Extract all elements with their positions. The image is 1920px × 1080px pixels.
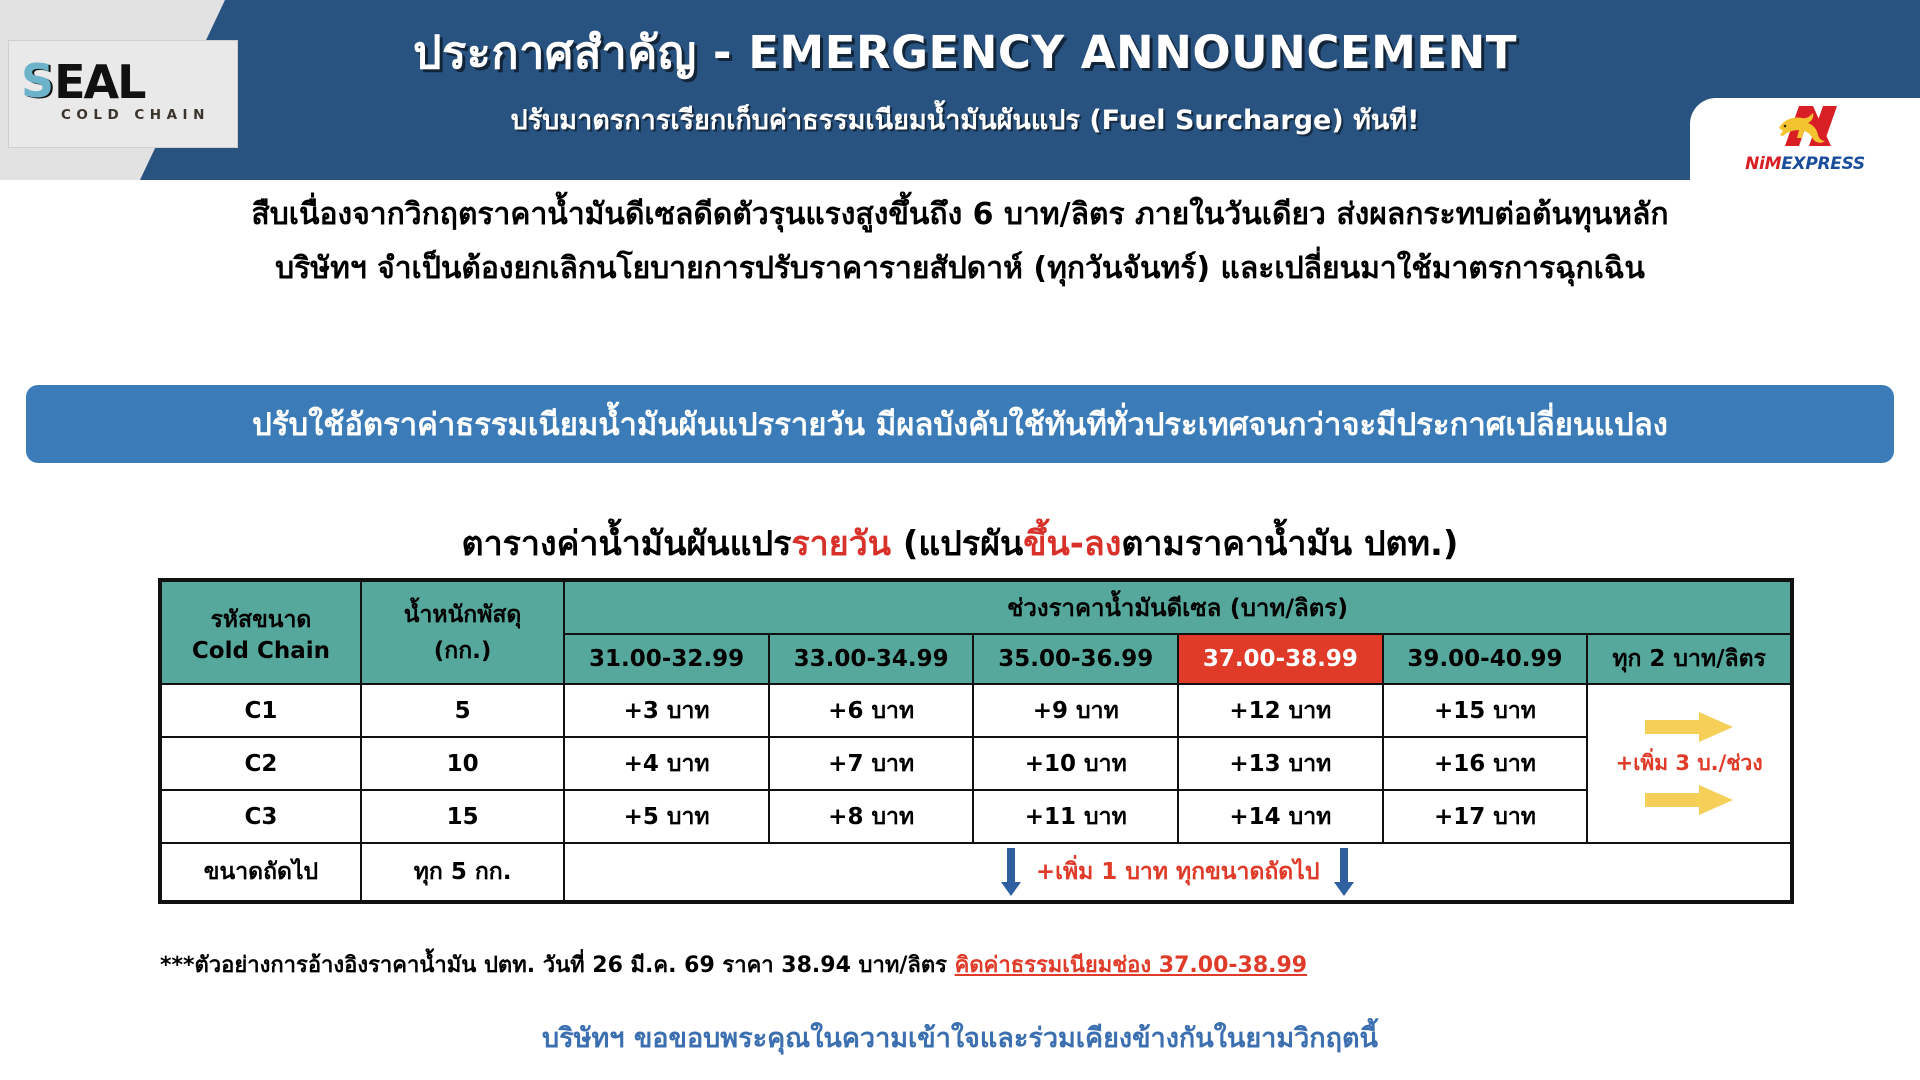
cell-c1-band2: +9 บาท [973,684,1178,737]
table-footnote: ***ตัวอย่างการอ้างอิงราคาน้ำมัน ปตท. วัน… [160,947,1307,982]
cell-code-c3: C3 [160,790,361,843]
next-size-note-label: +เพิ่ม 1 บาท ทุกขนาดถัดไป [1036,854,1320,890]
cell-weight-c1: 5 [361,684,564,737]
cell-code-c1: C1 [160,684,361,737]
th-band-1: 33.00-34.99 [769,634,974,684]
th-size-code: รหัสขนาด Cold Chain [160,580,361,684]
intro-paragraph: สืบเนื่องจากวิกฤตราคาน้ำมันดีเซลดีดตัวรุ… [0,188,1920,296]
cell-c2-band0: +4 บาท [564,737,769,790]
cell-c2-band4: +16 บาท [1383,737,1588,790]
th-price-band-group: ช่วงราคาน้ำมันดีเซล (บาท/ลิตร) [564,580,1792,634]
footnote-highlight: คิดค่าธรรมเนียมช่อง 37.00-38.99 [955,953,1307,978]
seal-s-accent: S [21,58,52,104]
table-body: C1 5 +3 บาท +6 บาท +9 บาท +12 บาท +15 บา… [160,684,1792,902]
arrow-right-icon [1643,710,1735,744]
cell-c3-band2: +11 บาท [973,790,1178,843]
nim-express-logo-card: NiMEXPRESS [1690,98,1920,180]
policy-banner: ปรับใช้อัตราค่าธรรมเนียมน้ำมันผันแปรรายว… [26,385,1894,463]
cell-c2-band2: +10 บาท [973,737,1178,790]
intro-line-1: สืบเนื่องจากวิกฤตราคาน้ำมันดีเซลดีดตัวรุ… [0,188,1920,242]
cell-step-note: +เพิ่ม 3 บ./ช่วง [1587,684,1792,843]
announcement-title: ประกาศสำคัญ - EMERGENCY ANNOUNCEMENT [225,16,1705,88]
thanks-message: บริษัทฯ ขอขอบพระคุณในความเข้าใจและร่วมเค… [0,1016,1920,1059]
table-row-next-size: ขนาดถัดไป ทุก 5 กก. +เพิ่ม 1 บาท ทุกขนาด… [160,843,1792,902]
step-arrow-stack: +เพิ่ม 3 บ./ช่วง [1590,687,1788,840]
seal-wordmark: S SEAL [23,59,223,105]
th-weight: น้ำหนักพัสดุ (กก.) [361,580,564,684]
th-band-2: 35.00-36.99 [973,634,1178,684]
step-note-label: +เพิ่ม 3 บ./ช่วง [1616,747,1763,780]
th-size-code-line2: Cold Chain [164,638,358,664]
table-title: ตารางค่าน้ำมันผันแปรรายวัน (แปรผันขึ้น-ล… [0,516,1920,570]
th-band-4: 39.00-40.99 [1383,634,1588,684]
arrow-right-icon [1643,783,1735,817]
th-size-code-line1: รหัสขนาด [164,602,358,638]
footnote-plain: ***ตัวอย่างการอ้างอิงราคาน้ำมัน ปตท. วัน… [160,953,955,978]
table-title-part1: ตารางค่าน้ำมันผันแปร [462,524,792,564]
seal-tagline: COLD CHAIN [61,107,223,123]
cell-c2-band3: +13 บาท [1178,737,1383,790]
cell-c1-band4: +15 บาท [1383,684,1588,737]
cell-c3-band4: +17 บาท [1383,790,1588,843]
table-row: C2 10 +4 บาท +7 บาท +10 บาท +13 บาท +16 … [160,737,1792,790]
table-head: รหัสขนาด Cold Chain น้ำหนักพัสดุ (กก.) ช… [160,580,1792,684]
cell-c1-band1: +6 บาท [769,684,974,737]
next-size-note-inner: +เพิ่ม 1 บาท ทุกขนาดถัดไป [567,846,1788,898]
cell-code-c2: C2 [160,737,361,790]
table-header-row-1: รหัสขนาด Cold Chain น้ำหนักพัสดุ (กก.) ช… [160,580,1792,634]
table-title-highlight1: รายวัน [791,524,891,564]
table-title-part3: ตามราคาน้ำมัน ปตท.) [1121,524,1458,564]
table-row: C1 5 +3 บาท +6 บาท +9 บาท +12 บาท +15 บา… [160,684,1792,737]
cell-c1-band3: +12 บาท [1178,684,1383,737]
cell-c2-band1: +7 บาท [769,737,974,790]
announcement-subtitle: ปรับมาตรการเรียกเก็บค่าธรรมเนียมน้ำมันผั… [225,98,1705,141]
cell-next-size-code: ขนาดถัดไป [160,843,361,902]
arrow-down-icon [1000,846,1022,898]
nim-word-part1: NiM [1745,154,1781,174]
page-header: S SEAL COLD CHAIN ประกาศสำคัญ - EMERGENC… [0,0,1920,180]
nim-lion-icon [1769,104,1841,148]
policy-banner-text: ปรับใช้อัตราค่าธรรมเนียมน้ำมันผันแปรรายว… [252,399,1668,449]
fuel-surcharge-table: รหัสขนาด Cold Chain น้ำหนักพัสดุ (กก.) ช… [158,578,1794,904]
cell-weight-c2: 10 [361,737,564,790]
fuel-surcharge-table-wrapper: รหัสขนาด Cold Chain น้ำหนักพัสดุ (กก.) ช… [158,578,1794,904]
arrow-down-icon [1333,846,1355,898]
cell-c3-band3: +14 บาท [1178,790,1383,843]
cell-next-size-weight: ทุก 5 กก. [361,843,564,902]
seal-logo-box: S SEAL COLD CHAIN [8,40,238,148]
intro-line-2: บริษัทฯ จำเป็นต้องยกเลิกนโยบายการปรับราค… [0,242,1920,296]
cell-c3-band0: +5 บาท [564,790,769,843]
table-title-part2: (แปรผัน [891,524,1023,564]
cell-next-size-note: +เพิ่ม 1 บาท ทุกขนาดถัดไป [564,843,1792,902]
table-title-highlight2: ขึ้น-ลง [1023,524,1121,564]
cell-c1-band0: +3 บาท [564,684,769,737]
table-row: C3 15 +5 บาท +8 บาท +11 บาท +14 บาท +17 … [160,790,1792,843]
cell-c3-band1: +8 บาท [769,790,974,843]
seal-logo: S SEAL COLD CHAIN [23,59,223,117]
th-weight-line2: (กก.) [364,633,561,669]
cell-weight-c3: 15 [361,790,564,843]
th-band-step: ทุก 2 บาท/ลิตร [1587,634,1792,684]
th-band-0: 31.00-32.99 [564,634,769,684]
nim-express-wordmark: NiMEXPRESS [1690,154,1920,174]
nim-word-part2: EXPRESS [1781,154,1865,174]
th-weight-line1: น้ำหนักพัสดุ [364,597,561,633]
th-band-3-highlighted: 37.00-38.99 [1178,634,1383,684]
